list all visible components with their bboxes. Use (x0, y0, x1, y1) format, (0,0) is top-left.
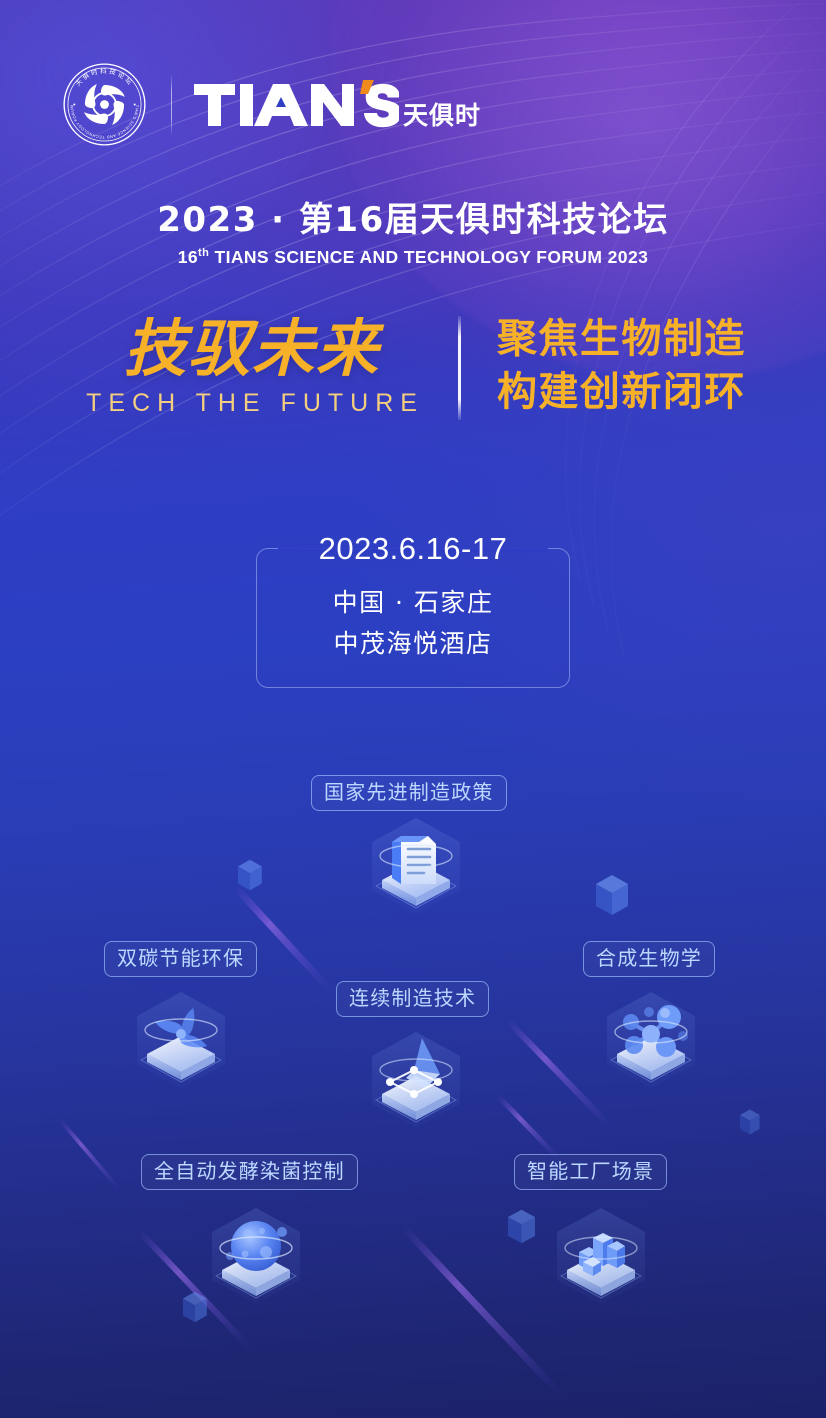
topic-item-fermentation: 全自动发酵染菌控制 (141, 1154, 358, 1190)
topic-item-continuous: 连续制造技术 (336, 981, 489, 1017)
topic-item-policy: 国家先进制造政策 (311, 775, 507, 811)
bar-buildings-icon (541, 1204, 661, 1314)
slogan-left: 技驭未来 TECH THE FUTURE (80, 316, 458, 417)
logo-divider (171, 74, 172, 136)
svg-text:天俱时科技论坛: 天俱时科技论坛 (74, 66, 136, 88)
title-en-ordinal: th (198, 248, 209, 260)
topic-item-factory: 智能工厂场景 (514, 1154, 667, 1190)
forum-emblem-icon: 天俱时科技论坛 TIAN'S SCIENCE AND TECHNOLOGY FO… (62, 62, 147, 147)
topic-badge-continuous: 连续制造技术 (336, 981, 489, 1017)
title-en-rest: TIANS SCIENCE AND TECHNOLOGY FORUM 2023 (209, 247, 648, 267)
page-title: 2023 · 第16届天俱时科技论坛 16th TIANS SCIENCE AN… (0, 200, 826, 268)
slogan-cn: 技驭未来 (80, 316, 424, 383)
venue-place: 中茂海悦酒店 (257, 624, 569, 665)
event-venue: 中国 · 石家庄 中茂海悦酒店 (257, 583, 569, 664)
event-date: 2023.6.16-17 (303, 529, 524, 569)
document-policy-icon (356, 816, 476, 920)
topic-item-synbio: 合成生物学 (583, 941, 715, 977)
topic-badge-factory: 智能工厂场景 (514, 1154, 667, 1190)
title-cn: 2023 · 第16届天俱时科技论坛 (0, 200, 826, 241)
topic-badge-fermentation: 全自动发酵染菌控制 (141, 1154, 358, 1190)
slogan-right: 聚焦生物制造 构建创新闭环 (461, 313, 746, 419)
tians-wordmark-icon (194, 80, 399, 130)
topic-badge-synbio: 合成生物学 (583, 941, 715, 977)
wordmark: 天俱时 (194, 80, 481, 130)
promo-poster: 天俱时科技论坛 TIAN'S SCIENCE AND TECHNOLOGY FO… (0, 0, 826, 1418)
title-en-number: 16 (178, 247, 198, 267)
network-node-icon (356, 1030, 476, 1134)
wordmark-cn: 天俱时 (403, 103, 481, 130)
wind-turbine-icon (121, 990, 241, 1094)
event-info-card: 2023.6.16-17 中国 · 石家庄 中茂海悦酒店 (256, 548, 570, 688)
topic-badge-carbon: 双碳节能环保 (104, 941, 257, 977)
topic-badge-policy: 国家先进制造政策 (311, 775, 507, 811)
slogan-block: 技驭未来 TECH THE FUTURE 聚焦生物制造 构建创新闭环 (0, 312, 826, 420)
title-en: 16th TIANS SCIENCE AND TECHNOLOGY FORUM … (0, 247, 826, 268)
venue-city: 中国 · 石家庄 (257, 583, 569, 624)
brand-header: 天俱时科技论坛 TIAN'S SCIENCE AND TECHNOLOGY FO… (62, 62, 481, 147)
slogan-line-1: 聚焦生物制造 (497, 313, 746, 366)
topic-item-carbon: 双碳节能环保 (104, 941, 257, 977)
slogan-en: TECH THE FUTURE (80, 391, 424, 416)
molecule-icon (591, 990, 711, 1094)
slogan-line-2: 构建创新闭环 (497, 366, 746, 419)
sphere-tank-icon (196, 1204, 316, 1314)
